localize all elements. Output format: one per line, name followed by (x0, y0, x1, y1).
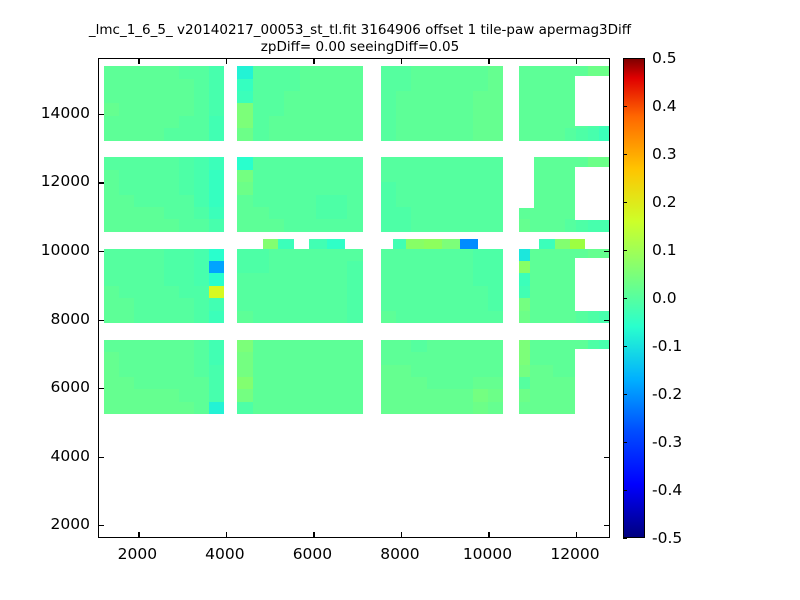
heatmap-cell (347, 91, 363, 103)
heatmap-cell (253, 298, 269, 310)
heatmap-cell (396, 249, 411, 261)
heatmap-cell (119, 182, 134, 194)
heatmap-cell (237, 195, 253, 207)
heatmap-cell (269, 377, 285, 389)
heatmap-cell (473, 340, 488, 352)
heatmap-cell (347, 402, 363, 414)
heatmap-cell (104, 128, 119, 140)
heatmap-cell (381, 311, 396, 323)
heatmap-cell (473, 402, 488, 414)
heatmap-cell (553, 195, 565, 207)
heatmap-cell (194, 377, 209, 389)
heatmap-cell (284, 402, 300, 414)
detector-tile (381, 66, 504, 140)
heatmap-cell (331, 91, 347, 103)
tile-notch (575, 76, 610, 126)
heatmap-cell (134, 66, 149, 78)
heatmap-cell (457, 103, 472, 115)
heatmap-cell (269, 219, 285, 231)
x-axis-tick (313, 532, 314, 537)
heatmap-cell (411, 128, 426, 140)
heatmap-cell (149, 352, 164, 364)
heatmap-cell (488, 128, 503, 140)
heatmap-cell (411, 261, 426, 273)
heatmap-cell (237, 207, 253, 219)
heatmap-cell (427, 286, 442, 298)
heatmap-cell (347, 389, 363, 401)
heatmap-cell (269, 402, 285, 414)
heatmap-cell (396, 103, 411, 115)
heatmap-cell (396, 377, 411, 389)
heatmap-cell (149, 91, 164, 103)
heatmap-cell (427, 116, 442, 128)
heatmap-cell (194, 249, 209, 261)
heatmap-cell (457, 91, 472, 103)
heatmap-cell (411, 365, 426, 377)
heatmap-cell (331, 182, 347, 194)
heatmap-cell (134, 207, 149, 219)
heatmap-cell (316, 340, 332, 352)
heatmap-cell (284, 273, 300, 285)
heatmap-cell (331, 66, 347, 78)
heatmap-cell (473, 116, 488, 128)
heatmap-cell (442, 273, 457, 285)
heatmap-cell (519, 389, 531, 401)
heatmap-cell (269, 170, 285, 182)
colorbar-tick (623, 490, 627, 491)
heatmap-cell (209, 273, 224, 285)
heatmap-cell (164, 128, 179, 140)
heatmap-cell (427, 249, 442, 261)
heatmap-cell (530, 311, 542, 323)
heatmap-cell (427, 340, 442, 352)
heatmap-cell (530, 261, 542, 273)
heatmap-cell (209, 128, 224, 140)
heatmap-cell (381, 128, 396, 140)
heatmap-cell (284, 249, 300, 261)
heatmap-cell (300, 91, 316, 103)
heatmap-cell (253, 219, 269, 231)
x-axis-tick-label: 4000 (205, 545, 244, 563)
heatmap-cell (347, 116, 363, 128)
heatmap-cell (194, 157, 209, 169)
heatmap-cell (300, 219, 316, 231)
heatmap-cell (542, 377, 554, 389)
heatmap-cell (194, 128, 209, 140)
heatmap-cell (179, 286, 194, 298)
heatmap-cell (134, 116, 149, 128)
heatmap-cell (237, 261, 253, 273)
heatmap-cell (104, 377, 119, 389)
heatmap-cell (442, 249, 457, 261)
heatmap-cell (473, 352, 488, 364)
heatmap-cell (179, 402, 194, 414)
x-axis-tick-top (226, 59, 227, 64)
heatmap-cell (209, 389, 224, 401)
detector-tile (104, 157, 224, 231)
heatmap-cell (457, 389, 472, 401)
heatmap-cell (119, 298, 134, 310)
heatmap-cell (427, 219, 442, 231)
heatmap-cell (331, 377, 347, 389)
heatmap-cell (284, 352, 300, 364)
heatmap-cell (488, 103, 503, 115)
heatmap-cell (194, 91, 209, 103)
colorbar-tick-label: 0.2 (652, 193, 677, 211)
heatmap-cell (381, 273, 396, 285)
heatmap-cell (442, 91, 457, 103)
y-axis-tick (99, 320, 104, 321)
heatmap-cell (542, 219, 554, 231)
heatmap-cell (396, 79, 411, 91)
heatmap-cell (300, 249, 316, 261)
heatmap-cell (269, 298, 285, 310)
heatmap-cell (553, 157, 565, 169)
heatmap-cell (381, 340, 396, 352)
chart-title-block: _lmc_1_6_5_ v20140217_00053_st_tl.fit 31… (0, 22, 720, 56)
heatmap-cell (553, 261, 565, 273)
heatmap-cell (488, 195, 503, 207)
heatmap-cell (194, 219, 209, 231)
heatmap-cell (442, 170, 457, 182)
heatmap-cell (542, 207, 554, 219)
heatmap-cell (300, 352, 316, 364)
heatmap-cell (104, 91, 119, 103)
heatmap-cell (164, 286, 179, 298)
heatmap-cell (396, 157, 411, 169)
heatmap-cell (381, 365, 396, 377)
heatmap-cell (553, 79, 565, 91)
heatmap-cell (542, 273, 554, 285)
heatmap-cell (209, 311, 224, 323)
heatmap-cell (149, 182, 164, 194)
heatmap-cell (149, 261, 164, 273)
heatmap-cell (194, 79, 209, 91)
heatmap-cell (442, 66, 457, 78)
heatmap-cell (396, 195, 411, 207)
heatmap-cell (331, 79, 347, 91)
heatmap-cell (237, 103, 253, 115)
colorbar-tick (623, 538, 627, 539)
heatmap-cell (209, 182, 224, 194)
heatmap-cell (194, 273, 209, 285)
heatmap-cell (284, 79, 300, 91)
heatmap-cell (209, 352, 224, 364)
heatmap-cell (542, 182, 554, 194)
heatmap-cell (553, 128, 565, 140)
heatmap-cell (149, 389, 164, 401)
heatmap-cell (457, 311, 472, 323)
heatmap-cell (488, 286, 503, 298)
heatmap-cell (300, 261, 316, 273)
heatmap-cell (442, 365, 457, 377)
heatmap-cell (300, 170, 316, 182)
heatmap-cell (134, 365, 149, 377)
heatmap-cell (119, 103, 134, 115)
heatmap-cell (519, 79, 531, 91)
heatmap-cell (457, 249, 472, 261)
heatmap-cell (269, 389, 285, 401)
heatmap-cell (149, 377, 164, 389)
heatmap-cell (381, 207, 396, 219)
heatmap-cell (427, 103, 442, 115)
heatmap-cell (488, 352, 503, 364)
heatmap-cell (149, 157, 164, 169)
tile-cell-grid (104, 249, 224, 323)
colorbar-tick (623, 394, 627, 395)
heatmap-cell (519, 91, 531, 103)
heatmap-cell (427, 79, 442, 91)
heatmap-cell (316, 157, 332, 169)
heatmap-cell (134, 340, 149, 352)
heatmap-cell (442, 157, 457, 169)
heatmap-cell (149, 286, 164, 298)
heatmap-cell (427, 170, 442, 182)
heatmap-cell (164, 79, 179, 91)
tile-notch (519, 157, 534, 207)
heatmap-cell (530, 103, 542, 115)
heatmap-cell (553, 103, 565, 115)
heatmap-cell (300, 66, 316, 78)
x-axis-tick-top (576, 59, 577, 64)
heatmap-cell (347, 377, 363, 389)
heatmap-cell (253, 116, 269, 128)
heatmap-cell (316, 128, 332, 140)
heatmap-cell (134, 261, 149, 273)
heatmap-cell (119, 365, 134, 377)
heatmap-cell (396, 389, 411, 401)
heatmap-cell (442, 311, 457, 323)
colorbar-tick-label: 0.5 (652, 49, 677, 67)
heatmap-cell (542, 352, 554, 364)
heatmap-cell (381, 298, 396, 310)
heatmap-cell (209, 402, 224, 414)
heatmap-cell (284, 157, 300, 169)
heatmap-cell (396, 273, 411, 285)
heatmap-cell (284, 377, 300, 389)
heatmap-cell (149, 311, 164, 323)
tile-notch (575, 167, 610, 220)
heatmap-cell (316, 91, 332, 103)
heatmap-cell (473, 365, 488, 377)
heatmap-cell (119, 157, 134, 169)
heatmap-cell (347, 128, 363, 140)
heatmap-cell (284, 91, 300, 103)
heatmap-cell (237, 79, 253, 91)
heatmap-cell (396, 286, 411, 298)
heatmap-cell (164, 273, 179, 285)
heatmap-cell (284, 182, 300, 194)
heatmap-cell (284, 311, 300, 323)
tile-bottom-strip-segment (460, 239, 478, 249)
heatmap-cell (194, 207, 209, 219)
heatmap-cell (284, 298, 300, 310)
heatmap-cell (381, 103, 396, 115)
heatmap-cell (253, 66, 269, 78)
detector-tile (237, 66, 362, 140)
heatmap-cell (269, 365, 285, 377)
heatmap-cell (253, 128, 269, 140)
tile-bottom-strip-segment (424, 239, 442, 249)
heatmap-cell (300, 103, 316, 115)
x-axis-tick-label: 6000 (293, 545, 332, 563)
heatmap-cell (164, 182, 179, 194)
heatmap-cell (253, 377, 269, 389)
heatmap-cell (488, 311, 503, 323)
heatmap-cell (542, 195, 554, 207)
heatmap-cell (164, 261, 179, 273)
heatmap-cell (411, 182, 426, 194)
heatmap-cell (300, 116, 316, 128)
heatmap-cell (519, 103, 531, 115)
y-axis-tick (99, 182, 104, 183)
detector-tile (104, 249, 224, 323)
colorbar-tick-label: -0.4 (652, 481, 682, 499)
heatmap-cell (396, 116, 411, 128)
heatmap-cell (347, 157, 363, 169)
heatmap-cell (396, 182, 411, 194)
x-axis-tick (226, 532, 227, 537)
heatmap-cell (119, 340, 134, 352)
heatmap-cell (134, 103, 149, 115)
heatmap-cell (381, 195, 396, 207)
heatmap-cell (269, 340, 285, 352)
heatmap-cell (194, 170, 209, 182)
heatmap-cell (237, 298, 253, 310)
heatmap-cell (396, 207, 411, 219)
heatmap-cell (149, 103, 164, 115)
tile-cell-grid (381, 66, 504, 140)
heatmap-cell (253, 365, 269, 377)
heatmap-cell (411, 377, 426, 389)
heatmap-cell (134, 298, 149, 310)
heatmap-cell (381, 261, 396, 273)
heatmap-cell (396, 298, 411, 310)
heatmap-cell (269, 116, 285, 128)
heatmap-cell (316, 116, 332, 128)
heatmap-cell (530, 79, 542, 91)
heatmap-cell (553, 389, 565, 401)
heatmap-cell (553, 66, 565, 78)
heatmap-cell (316, 298, 332, 310)
heatmap-cell (381, 389, 396, 401)
heatmap-cell (253, 79, 269, 91)
figure-canvas: _lmc_1_6_5_ v20140217_00053_st_tl.fit 31… (0, 0, 800, 600)
detector-tile (381, 340, 504, 414)
heatmap-cell (331, 273, 347, 285)
heatmap-cell (519, 249, 531, 261)
heatmap-cell (237, 219, 253, 231)
heatmap-cell (347, 261, 363, 273)
detector-tile (237, 340, 362, 414)
heatmap-cell (316, 219, 332, 231)
heatmap-cell (237, 66, 253, 78)
heatmap-cell (442, 389, 457, 401)
heatmap-cell (179, 219, 194, 231)
heatmap-cell (164, 249, 179, 261)
heatmap-cell (542, 402, 554, 414)
heatmap-cell (194, 66, 209, 78)
heatmap-cell (427, 91, 442, 103)
heatmap-cell (542, 128, 554, 140)
heatmap-cell (442, 195, 457, 207)
heatmap-cell (194, 261, 209, 273)
heatmap-cell (530, 286, 542, 298)
heatmap-cell (269, 66, 285, 78)
heatmap-cell (134, 286, 149, 298)
heatmap-cell (104, 249, 119, 261)
heatmap-cell (179, 352, 194, 364)
detector-tile (381, 249, 504, 323)
heatmap-cell (104, 340, 119, 352)
x-axis-tick (138, 532, 139, 537)
heatmap-cell (237, 377, 253, 389)
heatmap-cell (149, 116, 164, 128)
colorbar-tick-label: 0.3 (652, 145, 677, 163)
heatmap-cell (473, 249, 488, 261)
heatmap-cell (164, 365, 179, 377)
heatmap-cell (530, 298, 542, 310)
heatmap-cell (473, 79, 488, 91)
heatmap-cell (149, 273, 164, 285)
heatmap-cell (237, 157, 253, 169)
heatmap-cell (519, 66, 531, 78)
heatmap-cell (473, 377, 488, 389)
heatmap-cell (119, 249, 134, 261)
heatmap-cell (269, 352, 285, 364)
heatmap-cell (179, 91, 194, 103)
heatmap-cell (209, 249, 224, 261)
heatmap-cell (253, 340, 269, 352)
heatmap-cell (530, 352, 542, 364)
heatmap-cell (565, 128, 577, 140)
heatmap-cell (316, 273, 332, 285)
heatmap-cell (542, 91, 554, 103)
colorbar-tick-label: -0.2 (652, 385, 682, 403)
heatmap-cell (457, 79, 472, 91)
heatmap-cell (488, 389, 503, 401)
heatmap-cell (488, 219, 503, 231)
heatmap-cell (316, 402, 332, 414)
heatmap-cell (253, 273, 269, 285)
heatmap-cell (164, 157, 179, 169)
y-axis-tick (99, 457, 104, 458)
heatmap-cell (530, 273, 542, 285)
heatmap-cell (269, 91, 285, 103)
heatmap-cell (300, 365, 316, 377)
heatmap-cell (530, 219, 542, 231)
heatmap-cell (284, 66, 300, 78)
heatmap-cell (442, 79, 457, 91)
heatmap-cell (411, 157, 426, 169)
heatmap-cell (553, 365, 565, 377)
heatmap-cell (553, 377, 565, 389)
heatmap-cell (253, 91, 269, 103)
heatmap-cell (488, 273, 503, 285)
heatmap-cell (316, 170, 332, 182)
heatmap-cell (542, 298, 554, 310)
tile-bottom-strip-segment (539, 239, 554, 249)
x-axis-tick-top (488, 59, 489, 64)
heatmap-cell (519, 128, 531, 140)
tile-bottom-strip-segment (442, 239, 460, 249)
heatmap-cell (347, 286, 363, 298)
heatmap-cell (442, 286, 457, 298)
heatmap-cell (542, 170, 554, 182)
heatmap-cell (284, 261, 300, 273)
heatmap-cell (565, 311, 577, 323)
heatmap-cell (473, 195, 488, 207)
